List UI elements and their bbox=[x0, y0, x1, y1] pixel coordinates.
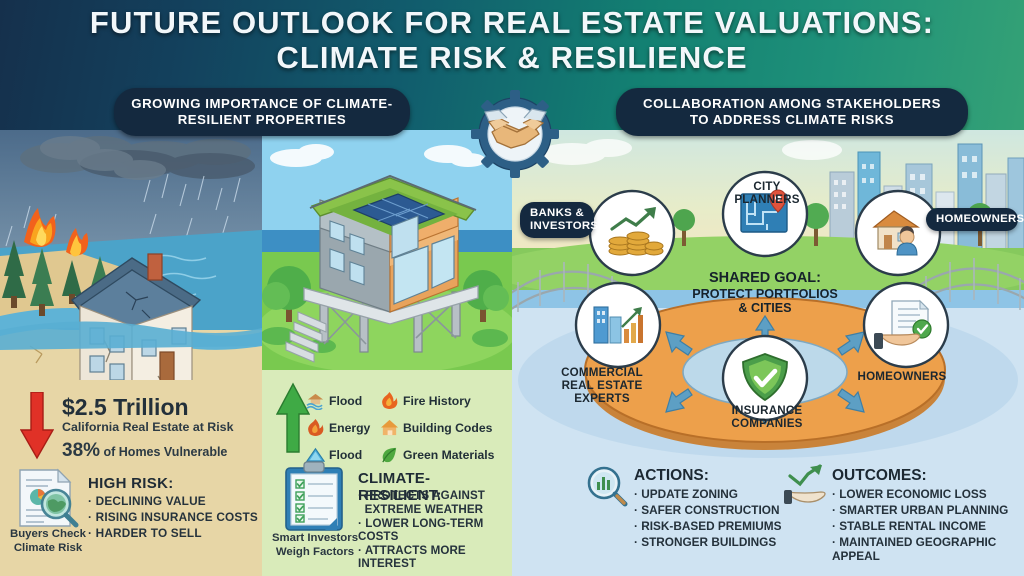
red-down-arrow-icon bbox=[20, 392, 54, 462]
list-item: · RISK-BASED PREMIUMS bbox=[634, 519, 781, 533]
flooded-cracked-house-wildfire-scene bbox=[0, 130, 262, 380]
panel-climate-resilient: Flood Fire History Energy bbox=[262, 130, 512, 576]
list-item: · RISING INSURANCE COSTS bbox=[88, 510, 258, 524]
actions-title: ACTIONS: bbox=[634, 467, 709, 485]
stakeholder-label-city-planners: CITY PLANNERS bbox=[722, 180, 812, 206]
checklist-clipboard-icon bbox=[278, 460, 352, 534]
panel-climate-risk: $2.5 Trillion California Real Estate at … bbox=[0, 130, 262, 576]
list-item: · STRONGER BUILDINGS bbox=[634, 535, 781, 549]
list-item: · LOWER ECONOMIC LOSS bbox=[832, 487, 1024, 501]
document-magnifier-icon bbox=[14, 468, 84, 530]
list-item: · SAFER CONSTRUCTION bbox=[634, 503, 781, 517]
outcomes-title: OUTCOMES: bbox=[832, 467, 927, 485]
factor-label: Building Codes bbox=[403, 421, 492, 435]
factor-label: Flood bbox=[329, 394, 362, 408]
list-item: · DECLINING VALUE bbox=[88, 494, 258, 508]
stat-percent-caption: of Homes Vulnerable bbox=[100, 445, 227, 459]
stakeholder-label-homeowners-top: HOMEOWNERS bbox=[926, 208, 1018, 231]
clipboard-caption-line-2: Weigh Factors bbox=[266, 546, 364, 560]
resilient-list: · PROTECTS AGAINST EXTREME WEATHER · LOW… bbox=[358, 489, 512, 571]
factor-green-materials: Green Materials bbox=[380, 442, 512, 467]
green-leaf-icon bbox=[380, 445, 399, 464]
list-item: EXTREME WEATHER bbox=[358, 503, 512, 516]
orange-house-icon bbox=[380, 418, 399, 437]
factor-label: Energy bbox=[329, 421, 370, 435]
factor-label: Fire History bbox=[403, 394, 471, 408]
section-badge-collaboration: COLLABORATION AMONG STAKEHOLDERS TO ADDR… bbox=[616, 88, 968, 136]
panel-collaboration: BANKS & INVESTORS CITY PLANNERS HOMEOWNE… bbox=[512, 130, 1024, 576]
stat-percent: 38% bbox=[62, 440, 100, 461]
factor-label: Green Materials bbox=[403, 448, 494, 462]
document-caption-line-1: Buyers Check bbox=[8, 528, 88, 542]
stakeholder-label-homeowners-bottom: HOMEOWNERS bbox=[856, 370, 948, 383]
factor-fire-history: Fire History bbox=[380, 388, 512, 413]
stakeholder-label-banks-investors: BANKS & INVESTORS bbox=[520, 202, 594, 238]
title-line-2: CLIMATE RISK & RESILIENCE bbox=[0, 41, 1024, 74]
handshake-gear-icon bbox=[461, 88, 569, 180]
risk-title: HIGH RISK: bbox=[88, 475, 174, 492]
document-caption: Buyers Check Climate Risk bbox=[8, 528, 88, 556]
list-item: · UPDATE ZONING bbox=[634, 487, 781, 501]
document-caption-line-2: Climate Risk bbox=[8, 542, 88, 556]
shared-goal-line-2: PROTECT PORTFOLIOS bbox=[680, 287, 850, 301]
magnifier-bar-chart-icon bbox=[584, 464, 630, 510]
actions-list: · UPDATE ZONING · SAFER CONSTRUCTION · R… bbox=[634, 487, 781, 551]
clipboard-caption: Smart Investors Weigh Factors bbox=[266, 532, 364, 560]
list-item: · SMARTER URBAN PLANNING bbox=[832, 503, 1024, 517]
stakeholder-label-insurance-companies: INSURANCE COMPANIES bbox=[724, 404, 810, 430]
outcomes-list: · LOWER ECONOMIC LOSS · SMARTER URBAN PL… bbox=[832, 487, 1024, 565]
stat-caption: California Real Estate at Risk bbox=[62, 420, 233, 434]
list-item: · PROTECTS AGAINST bbox=[358, 489, 512, 502]
flood-house-icon bbox=[306, 391, 325, 410]
shared-goal-text: SHARED GOAL: PROTECT PORTFOLIOS & CITIES bbox=[680, 270, 850, 315]
shared-goal-line-1: SHARED GOAL: bbox=[680, 270, 850, 287]
infographic-canvas: FUTURE OUTLOOK FOR REAL ESTATE VALUATION… bbox=[0, 0, 1024, 576]
title-line-1: FUTURE OUTLOOK FOR REAL ESTATE VALUATION… bbox=[0, 6, 1024, 39]
risk-list: · DECLINING VALUE · RISING INSURANCE COS… bbox=[88, 494, 258, 542]
section-badge-growing-importance: GROWING IMPORTANCE OF CLIMATE-RESILIENT … bbox=[114, 88, 410, 136]
stakeholder-label-commercial-real-estate-experts: COMMERCIAL REAL ESTATE EXPERTS bbox=[544, 366, 660, 406]
list-item: · STABLE RENTAL INCOME bbox=[832, 519, 1024, 533]
resilience-factor-grid: Flood Fire History Energy bbox=[306, 388, 512, 467]
list-item: · ATTRACTS MORE INTEREST bbox=[358, 544, 512, 570]
page-title: FUTURE OUTLOOK FOR REAL ESTATE VALUATION… bbox=[0, 6, 1024, 75]
factor-flood: Flood bbox=[306, 388, 380, 413]
factor-building-codes: Building Codes bbox=[380, 415, 512, 440]
list-item: · HARDER TO SELL bbox=[88, 526, 258, 540]
list-item: · MAINTAINED GEOGRAPHIC APPEAL bbox=[832, 535, 1024, 563]
stat-value: $2.5 Trillion bbox=[62, 394, 189, 421]
factor-energy: Energy bbox=[306, 415, 380, 440]
shared-goal-line-3: & CITIES bbox=[680, 301, 850, 315]
stat-percent-row: 38% of Homes Vulnerable bbox=[62, 440, 227, 462]
hand-growth-arrow-icon bbox=[784, 464, 830, 510]
flame-icon bbox=[306, 418, 325, 437]
flame-icon bbox=[380, 391, 399, 410]
list-item: · LOWER LONG-TERM COSTS bbox=[358, 517, 512, 543]
clipboard-caption-line-1: Smart Investors bbox=[266, 532, 364, 546]
green-up-arrow-icon bbox=[276, 382, 310, 454]
